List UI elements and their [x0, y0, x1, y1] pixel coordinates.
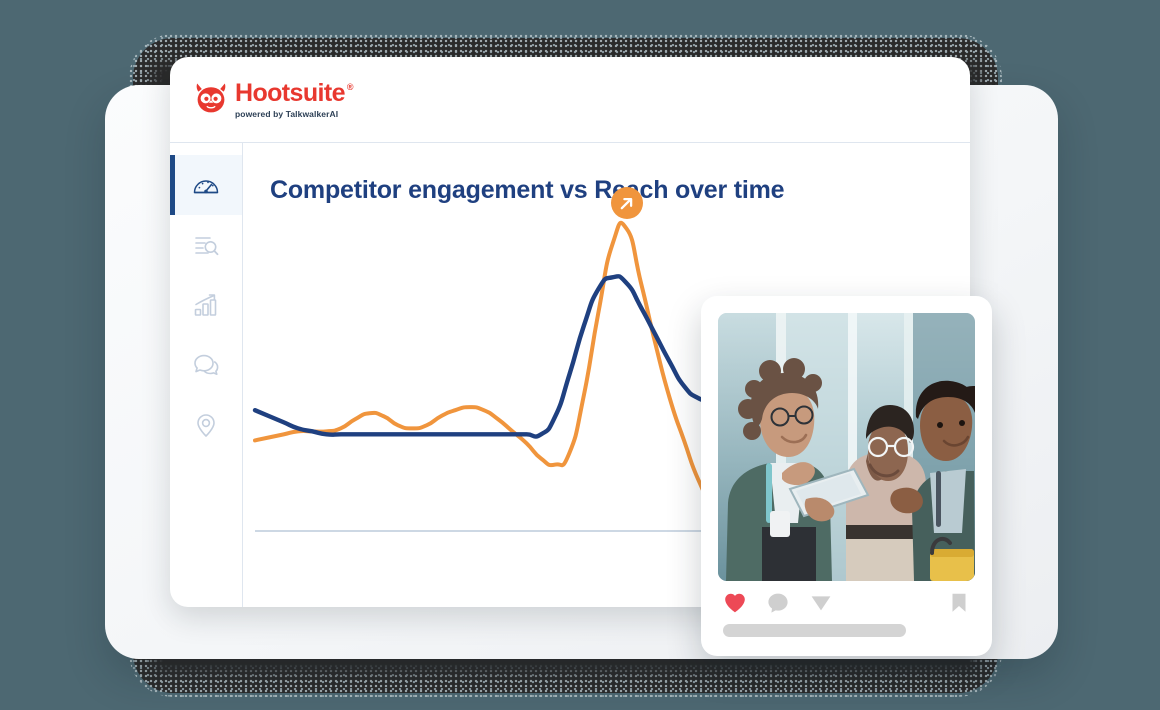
- stage: Hootsuite ® powered by TalkwalkerAI: [0, 0, 1160, 710]
- social-post-card: [701, 296, 992, 656]
- brand-name-row: Hootsuite ®: [235, 81, 353, 106]
- sidebar-item-search[interactable]: [170, 215, 242, 275]
- chat-bubbles-icon: [191, 350, 221, 380]
- trend-up-badge[interactable]: [611, 187, 643, 219]
- page-title: Competitor engagement vs Reach over time: [243, 143, 970, 205]
- bar-chart-growth-icon: [191, 290, 221, 320]
- post-action-bar: [718, 581, 975, 624]
- comment-icon[interactable]: [766, 591, 790, 615]
- speedometer-icon: [191, 170, 221, 200]
- heart-icon[interactable]: [723, 591, 747, 615]
- brand-name: Hootsuite: [235, 81, 345, 106]
- sidebar-item-dashboard[interactable]: [170, 155, 242, 215]
- brand-text: Hootsuite ® powered by TalkwalkerAI: [235, 81, 353, 119]
- photo-illustration: [718, 313, 975, 581]
- brand-logo[interactable]: Hootsuite ® powered by TalkwalkerAI: [194, 81, 353, 119]
- sidebar-item-analytics[interactable]: [170, 275, 242, 335]
- send-icon[interactable]: [809, 591, 833, 615]
- post-caption-placeholder: [723, 624, 906, 637]
- sidebar-item-locations[interactable]: [170, 395, 242, 455]
- map-pin-icon: [191, 410, 221, 440]
- owl-icon: [194, 82, 228, 113]
- sidebar-item-conversations[interactable]: [170, 335, 242, 395]
- business-team-photo: [718, 313, 975, 581]
- bookmark-icon[interactable]: [948, 591, 970, 615]
- arrow-up-right-icon: [618, 195, 635, 212]
- app-header: Hootsuite ® powered by TalkwalkerAI: [170, 57, 970, 143]
- brand-tagline: powered by TalkwalkerAI: [235, 110, 353, 119]
- list-search-icon: [191, 230, 221, 260]
- registered-mark: ®: [347, 83, 353, 92]
- sidebar-nav: [170, 143, 243, 607]
